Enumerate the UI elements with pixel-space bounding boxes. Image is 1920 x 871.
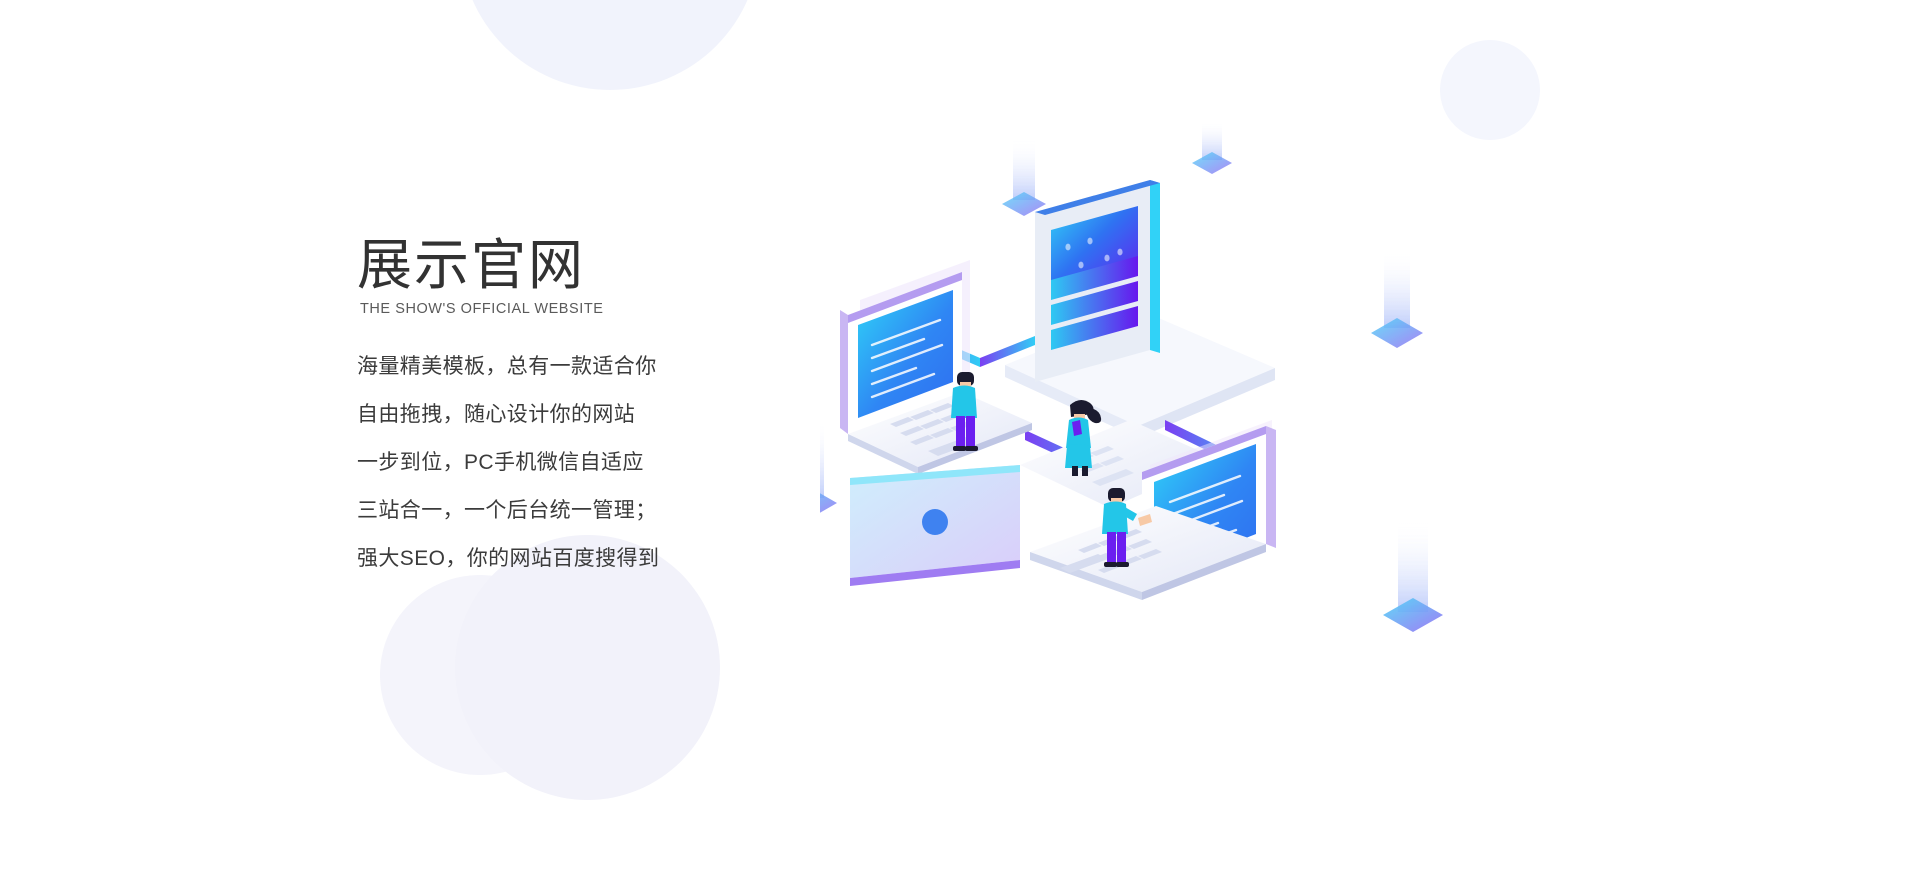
page-subtitle: THE SHOW'S OFFICIAL WEBSITE (360, 301, 837, 318)
feature-item: 一步到位，PC手机微信自适应 (357, 439, 837, 487)
pillar (1192, 120, 1232, 174)
feature-item: 强大SEO，你的网站百度搜得到 (357, 535, 837, 583)
decorative-circle-1 (460, 0, 760, 90)
center-display-screen (1035, 180, 1160, 382)
hero-copy: 展示官网 THE SHOW'S OFFICIAL WEBSITE 海量精美模板，… (357, 236, 837, 583)
decorative-circle-4 (380, 575, 580, 775)
pillar (1002, 138, 1046, 216)
pillar (1383, 520, 1443, 632)
feature-item: 自由拖拽，随心设计你的网站 (357, 391, 837, 439)
pillar (820, 420, 837, 518)
isometric-devices-network-illustration (820, 120, 1620, 640)
feature-list: 海量精美模板，总有一款适合你 自由拖拽，随心设计你的网站 一步到位，PC手机微信… (357, 343, 837, 583)
hero-banner: 展示官网 THE SHOW'S OFFICIAL WEBSITE 海量精美模板，… (0, 0, 1920, 871)
page-title: 展示官网 (357, 236, 837, 295)
pillar (1371, 250, 1423, 348)
feature-item: 海量精美模板，总有一款适合你 (357, 343, 837, 391)
feature-item: 三站合一，一个后台统一管理； (357, 487, 837, 535)
left-laptop (840, 260, 1032, 474)
